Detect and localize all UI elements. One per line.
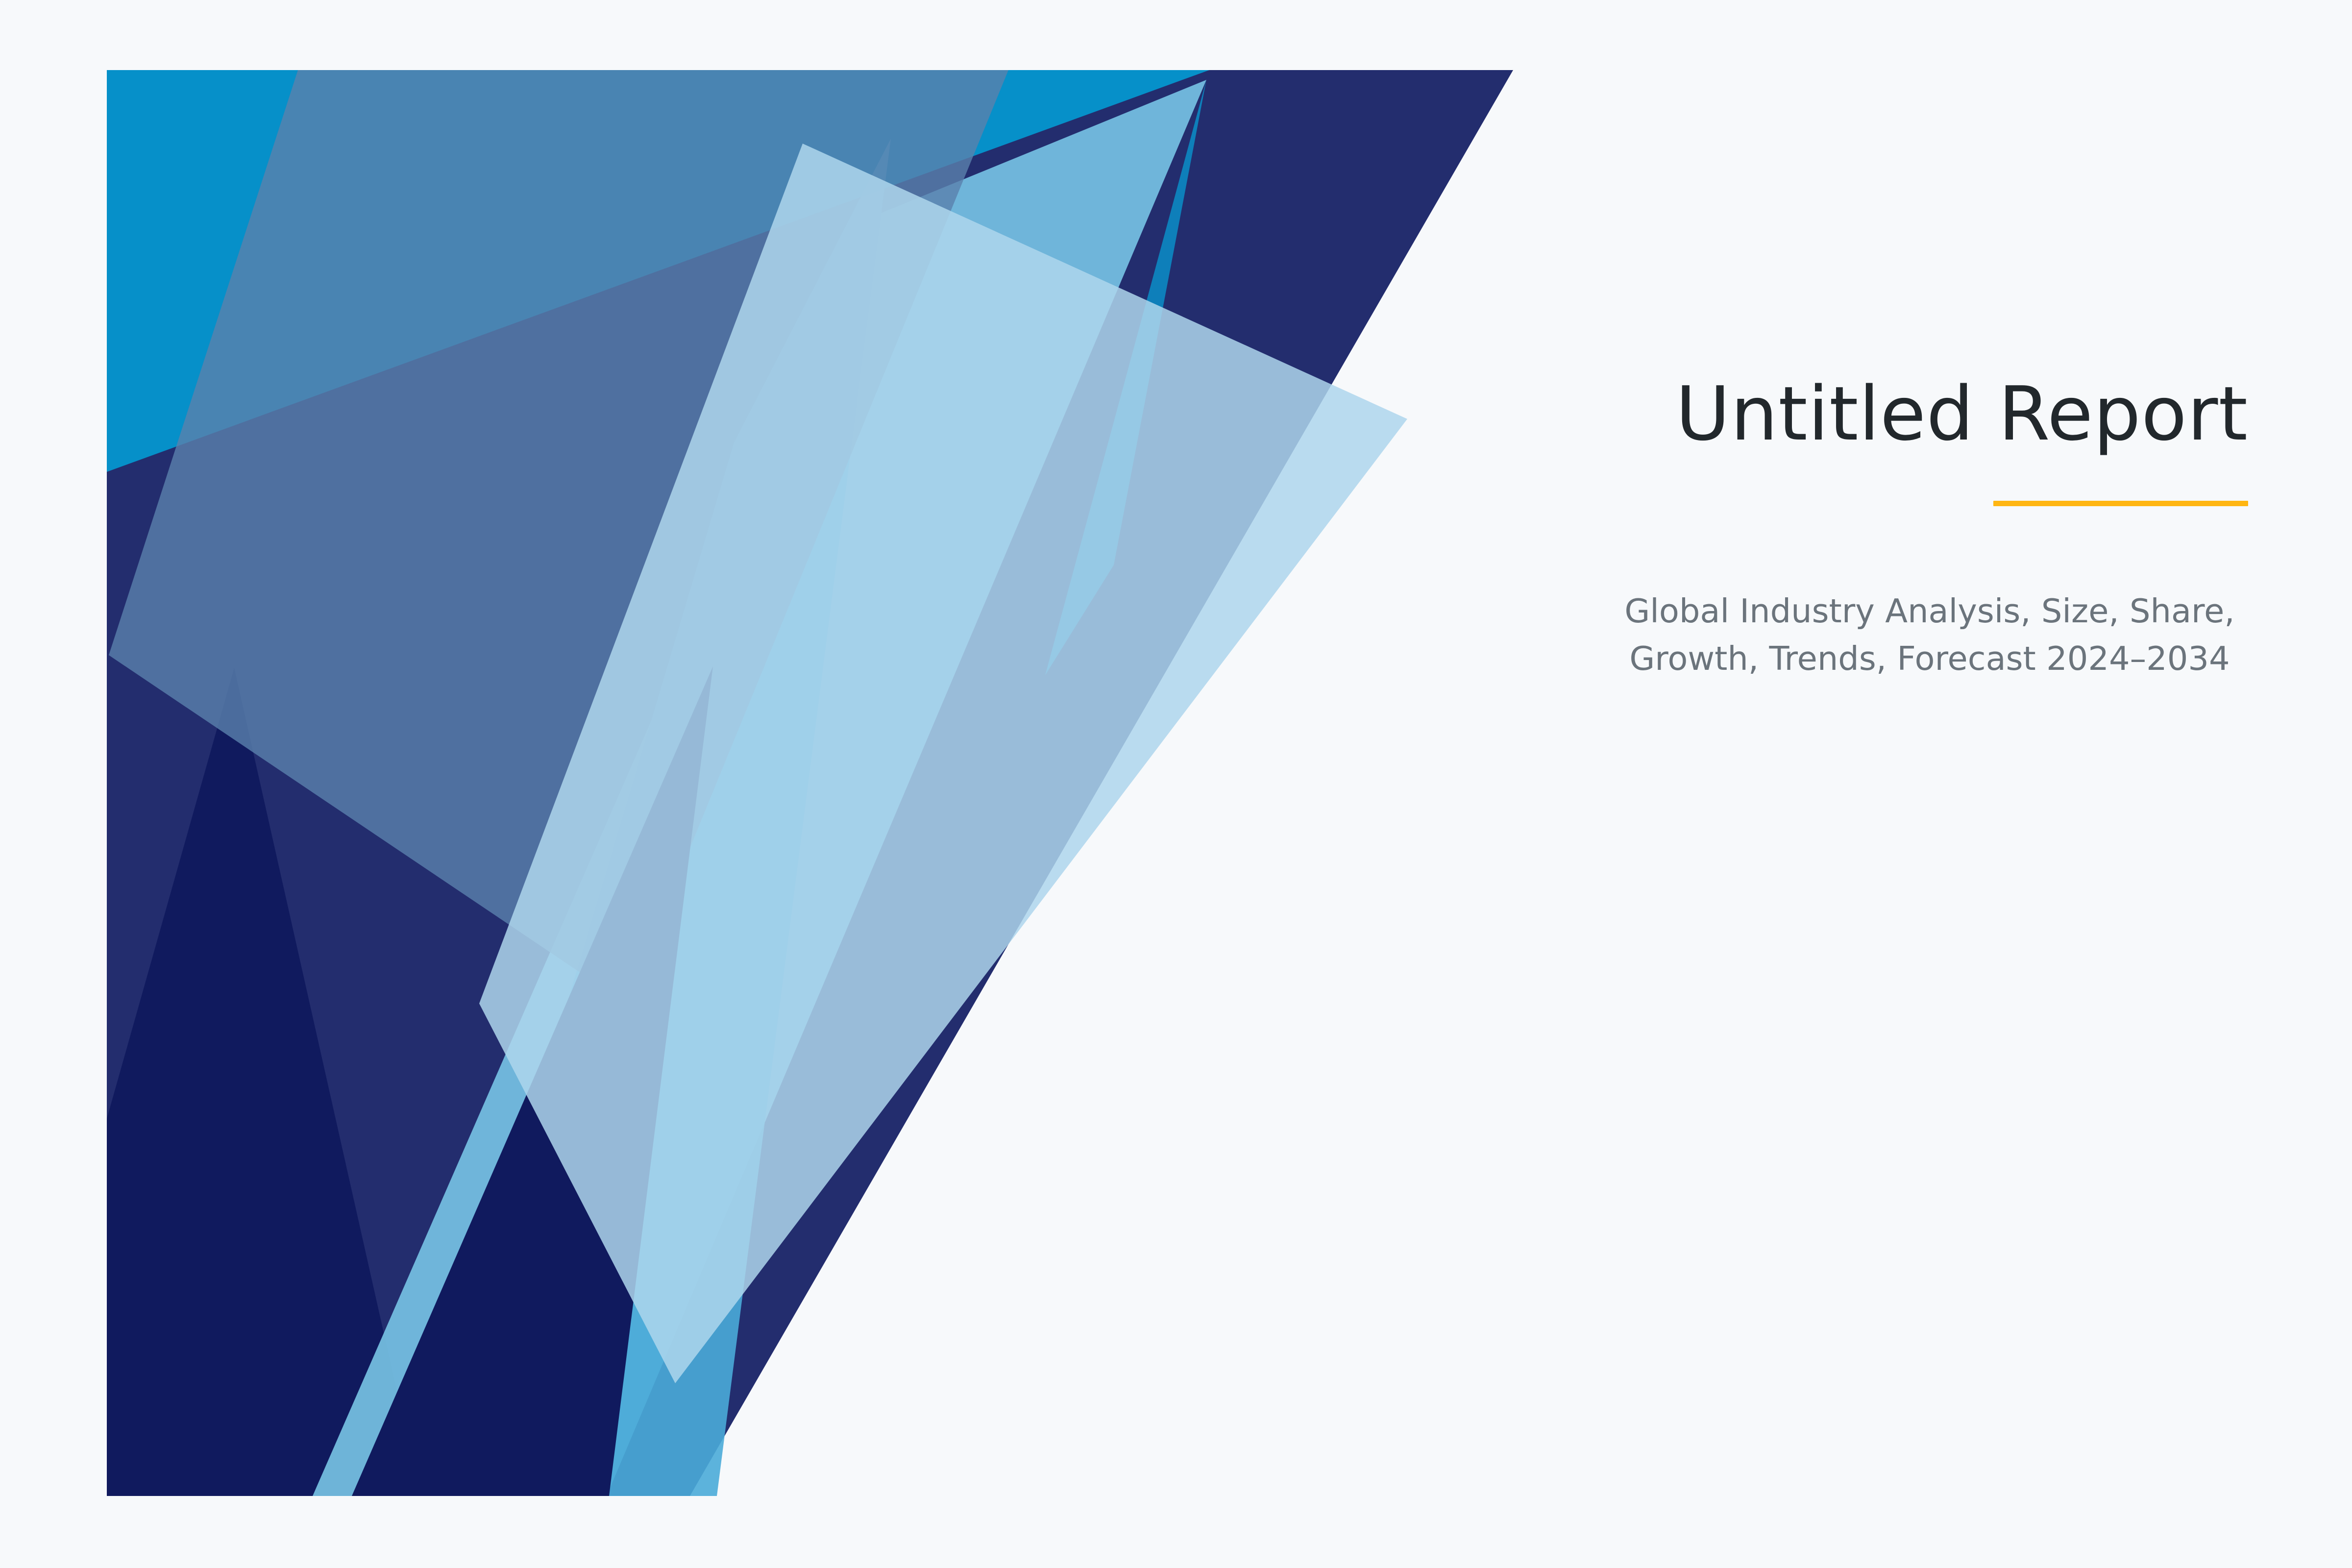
cover-page: Untitled Report Global Industry Analysis… <box>0 0 2352 1568</box>
abstract-geometric-graphic <box>107 70 1513 1496</box>
page-subtitle: Global Industry Analysis, Size, Share, G… <box>1611 588 2248 682</box>
cover-artwork <box>107 70 1513 1496</box>
accent-rule <box>1993 501 2248 506</box>
title-block: Untitled Report Global Industry Analysis… <box>1219 372 2248 682</box>
page-title: Untitled Report <box>1219 372 2248 456</box>
accent-rule-container <box>1219 501 2248 506</box>
